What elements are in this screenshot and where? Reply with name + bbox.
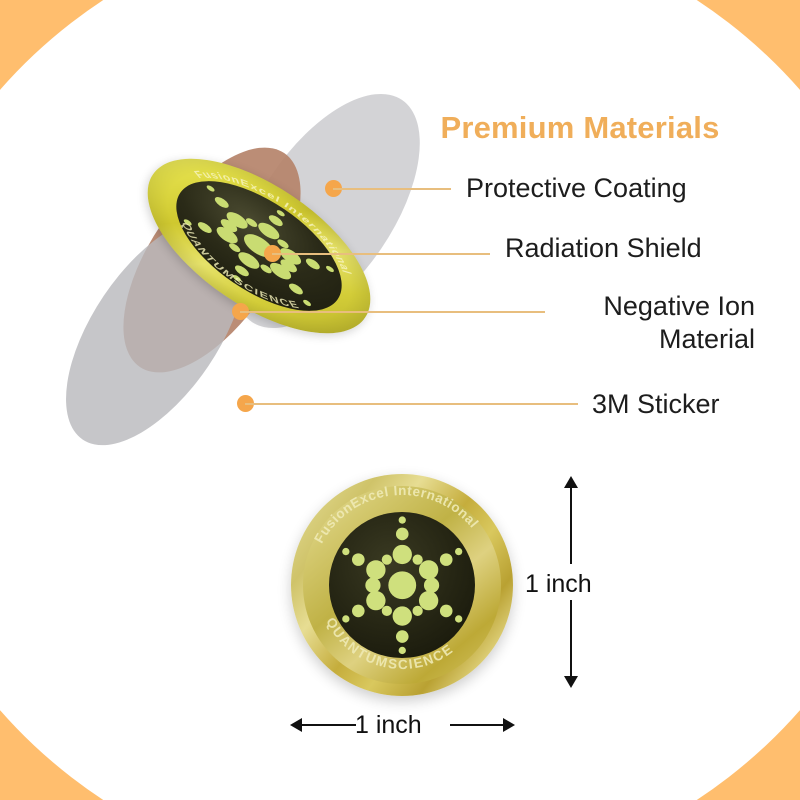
callout-label-3m-sticker: 3M Sticker <box>592 388 720 421</box>
dimension-width-label: 1 inch <box>355 711 422 740</box>
callout-label-negative-ion: Negative Ion Material <box>450 290 755 356</box>
leader-line-protective-coating <box>333 188 451 190</box>
product-dark-core <box>329 512 476 659</box>
leader-line-3m-sticker <box>245 403 578 405</box>
page-title: Premium Materials <box>390 110 770 146</box>
callout-label-protective-coating: Protective Coating <box>466 172 687 205</box>
dimension-height-label: 1 inch <box>525 570 592 599</box>
product-disc: FusionExcel International QUANTUMSCIENCE <box>291 474 513 696</box>
leader-line-radiation-shield <box>272 253 490 255</box>
starburst-icon <box>329 512 476 659</box>
callout-label-radiation-shield: Radiation Shield <box>505 232 702 265</box>
infographic-canvas: FusionExcel International QUANTUMSCIENCE… <box>0 0 800 800</box>
